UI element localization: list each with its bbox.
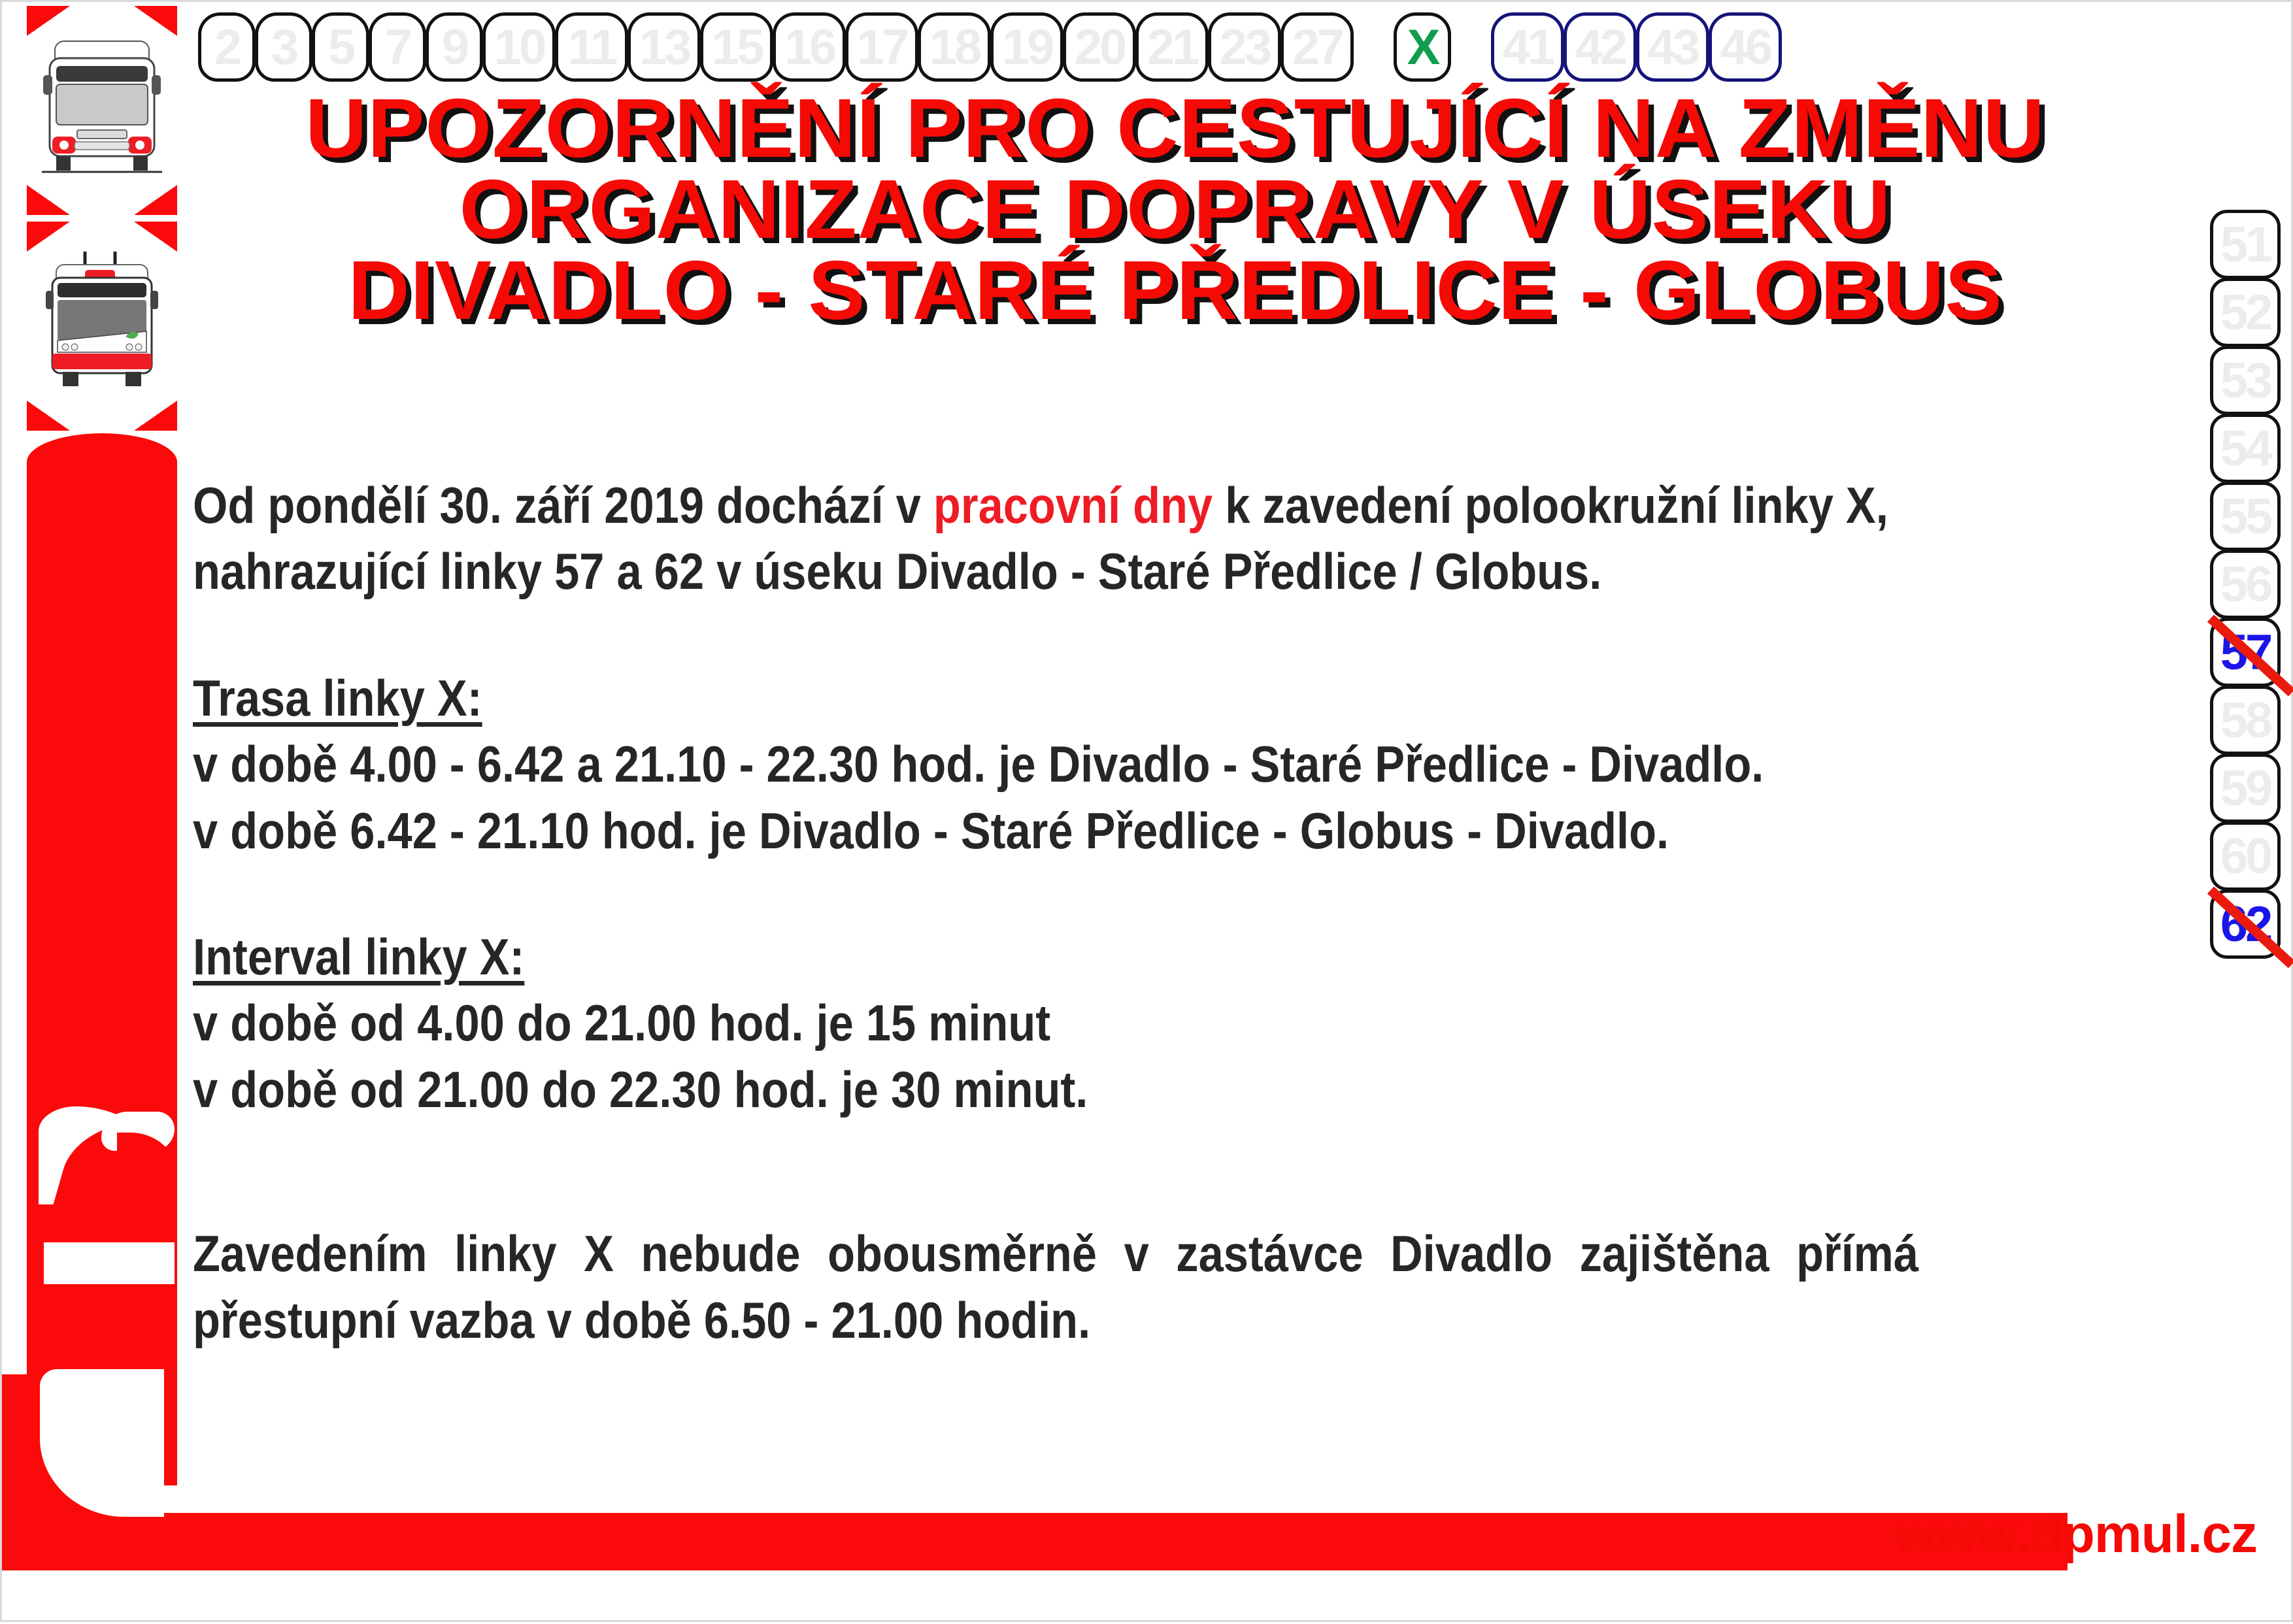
poster-page: 23579101113151617181920212327X41424346 5… [0,0,2293,1622]
sidebar-bottom-hook [2,1374,152,1570]
line-badge-20[interactable]: 20 [1063,12,1136,82]
note-line-1: Zavedením linky X nebude obousměrně v za… [193,1221,1918,1287]
note-paragraph: Zavedením linky X nebude obousměrně v za… [193,1221,1918,1353]
line-badge-56[interactable]: 56 [2210,550,2281,619]
bus-illustration [27,6,177,215]
line-badge-46[interactable]: 46 [1709,12,1782,82]
line-badge-55[interactable]: 55 [2210,482,2281,551]
red-sidebar-band [27,433,177,1485]
line-number-badge-row: 23579101113151617181920212327X41424346 [198,8,2277,86]
route-line-1: v době 4.00 - 6.42 a 21.10 - 22.30 hod. … [193,731,1918,797]
line-badge-17[interactable]: 17 [845,12,918,82]
line-badge-57[interactable]: 57 [2210,618,2281,687]
line-badge-42[interactable]: 42 [1564,12,1637,82]
intro-text-part1: Od pondělí 30. září 2019 dochází v [193,476,933,534]
interval-line-2: v době od 21.00 do 22.30 hod. je 30 minu… [193,1057,1918,1123]
interval-heading: Interval linky X: [193,924,1918,990]
bus-front-icon [36,32,168,186]
line-badge-54[interactable]: 54 [2210,414,2281,483]
line-badge-27[interactable]: 27 [1280,12,1354,82]
website-url[interactable]: www.dpmul.cz [1895,1504,2257,1565]
line-badge-23[interactable]: 23 [1208,12,1281,82]
line-badge-2[interactable]: 2 [198,12,256,82]
intro-line-1: Od pondělí 30. září 2019 dochází v praco… [193,472,1918,539]
dpmul-swoosh-logo [39,1106,169,1322]
trolleybus-illustration [27,222,177,431]
line-badge-60[interactable]: 60 [2210,821,2281,891]
note-line-2: přestupní vazba v době 6.50 - 21.00 hodi… [193,1287,1918,1353]
line-badge-x[interactable]: X [1394,12,1451,82]
line-badge-43[interactable]: 43 [1636,12,1709,82]
line-badge-21[interactable]: 21 [1135,12,1209,82]
line-badge-52[interactable]: 52 [2210,278,2281,347]
title-line-2: ORGANIZACE DOPRAVY V ÚSEKU [178,169,2172,250]
line-badge-10[interactable]: 10 [482,12,556,82]
line-badge-7[interactable]: 7 [369,12,426,82]
intro-text-part2: k zavedení polookružní linky X, [1213,476,1888,534]
intro-highlight: pracovní dny [933,476,1213,534]
line-badge-59[interactable]: 59 [2210,754,2281,823]
route-line-2: v době 6.42 - 21.10 hod. je Divadlo - St… [193,798,1918,864]
line-number-badge-column: 5152535455565758596062 [2207,210,2283,957]
line-badge-41[interactable]: 41 [1491,12,1564,82]
line-badge-19[interactable]: 19 [990,12,1063,82]
line-badge-53[interactable]: 53 [2210,346,2281,415]
line-badge-15[interactable]: 15 [700,12,773,82]
route-heading: Trasa linky X: [193,665,1918,731]
line-badge-11[interactable]: 11 [555,12,628,82]
line-badge-16[interactable]: 16 [773,12,846,82]
notice-body: Od pondělí 30. září 2019 dochází v praco… [193,472,1918,1353]
page-title: UPOZORNĚNÍ PRO CESTUJÍCÍ NA ZMĚNU ORGANI… [178,88,2172,331]
line-badge-62[interactable]: 62 [2210,889,2281,959]
interval-line-1: v době od 4.00 do 21.00 hod. je 15 minut [193,990,1918,1056]
title-line-1: UPOZORNĚNÍ PRO CESTUJÍCÍ NA ZMĚNU [178,88,2172,169]
line-badge-51[interactable]: 51 [2210,210,2281,279]
intro-line-2: nahrazující linky 57 a 62 v úseku Divadl… [193,539,1918,605]
line-badge-58[interactable]: 58 [2210,686,2281,755]
bottom-red-bar [2,1513,2067,1570]
line-badge-18[interactable]: 18 [918,12,991,82]
title-line-3: DIVADLO - STARÉ PŘEDLICE - GLOBUS [178,250,2172,331]
line-badge-9[interactable]: 9 [426,12,483,82]
trolleybus-front-icon [36,248,168,401]
cancelled-strike-icon [2204,885,2293,971]
line-badge-13[interactable]: 13 [628,12,701,82]
line-badge-3[interactable]: 3 [255,12,312,82]
line-badge-5[interactable]: 5 [312,12,369,82]
